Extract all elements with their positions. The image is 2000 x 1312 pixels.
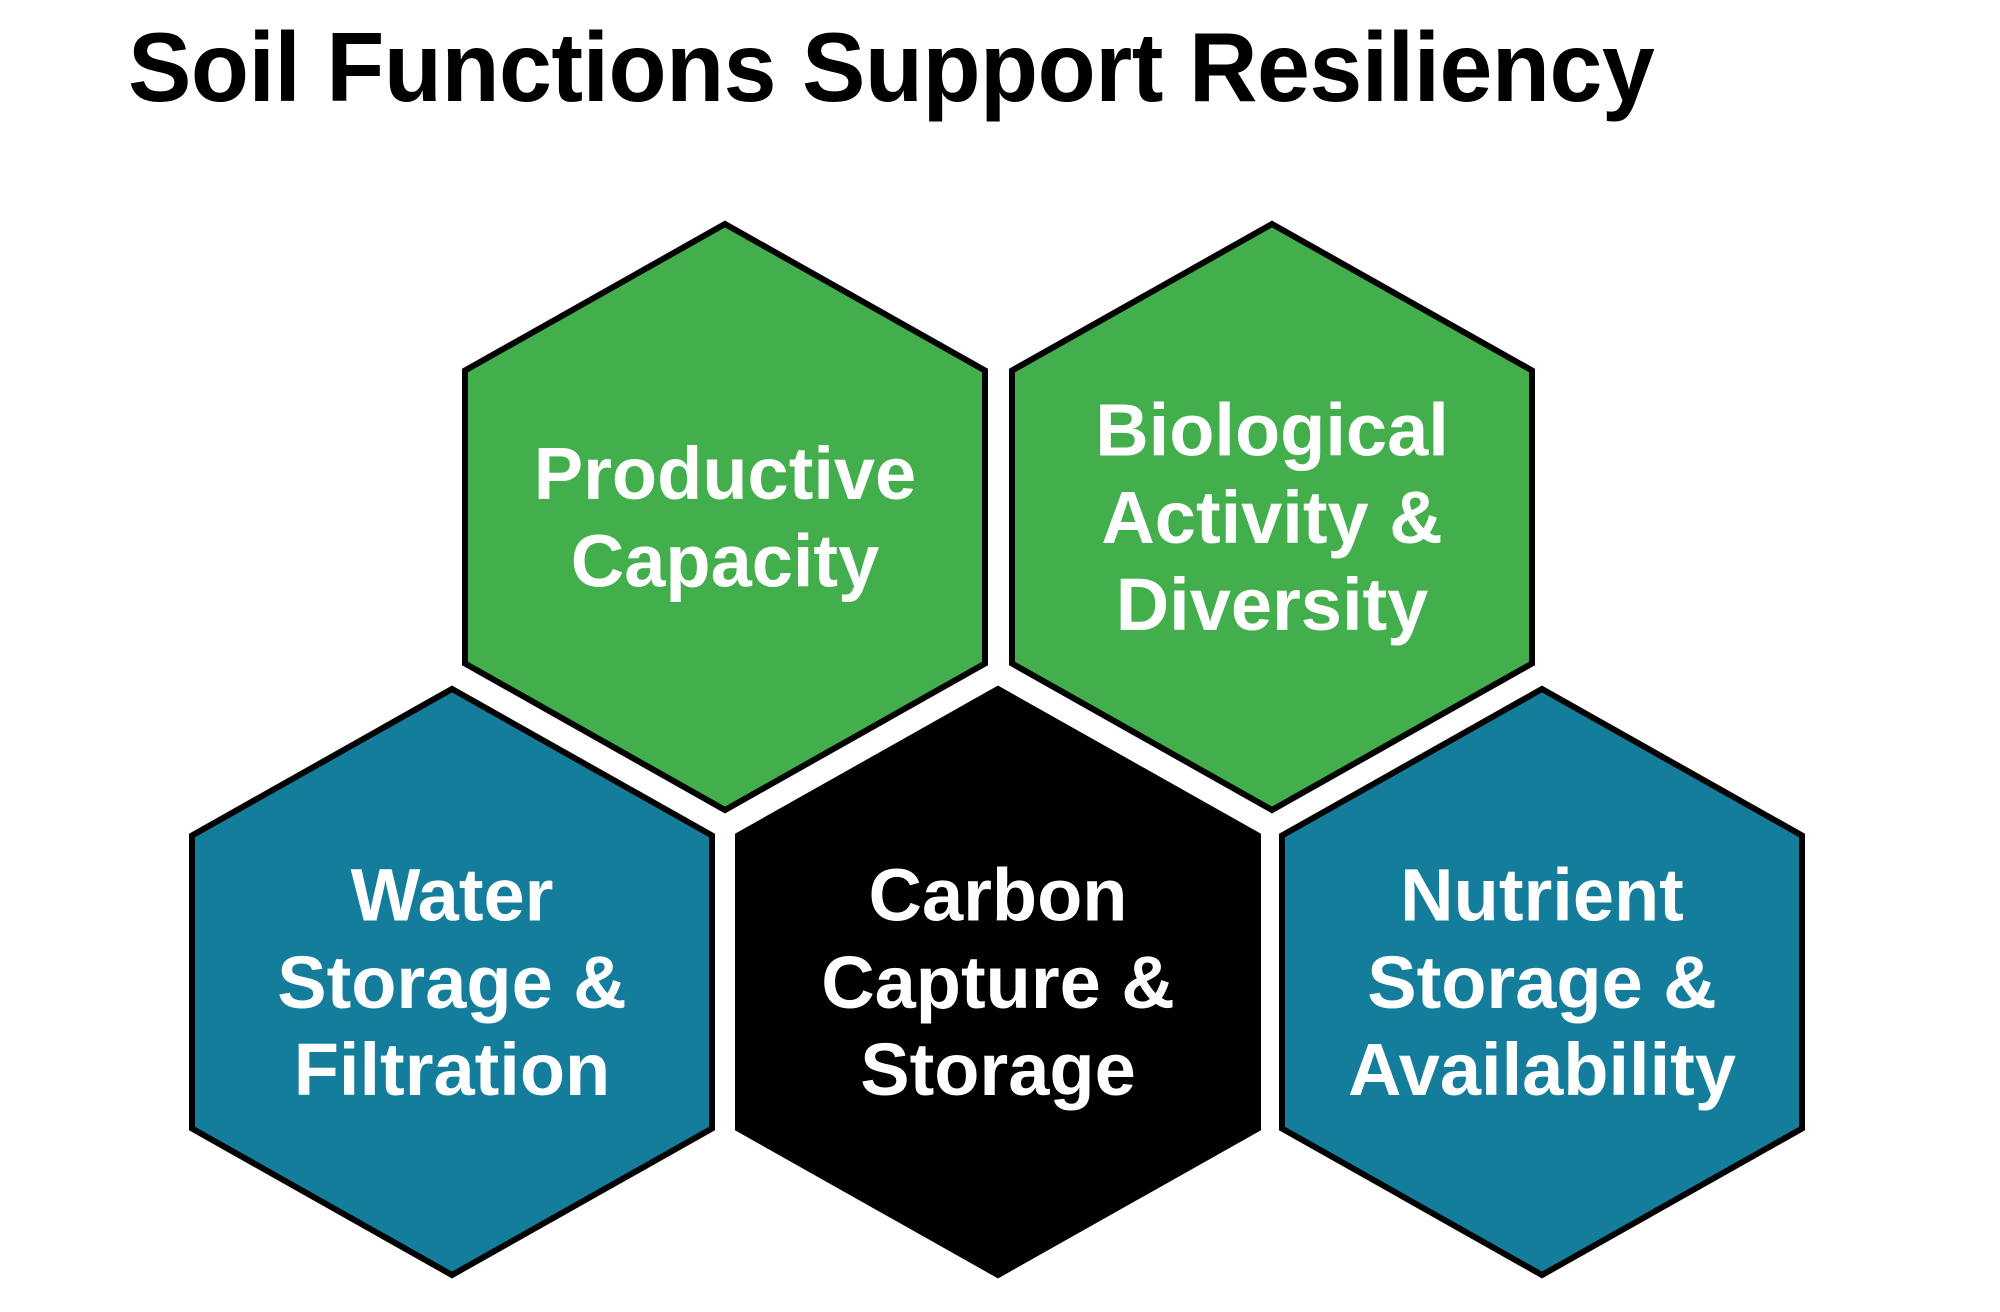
hexagon-productive-capacity-label-line-1: Capacity: [571, 520, 879, 603]
hexagon-productive-capacity-shape[interactable]: [465, 224, 985, 810]
infographic-canvas: Soil Functions Support Resiliency Produc…: [0, 0, 2000, 1312]
hexagon-nutrient-storage-availability-label: NutrientStorage &Availability: [1348, 854, 1736, 1112]
hexagon-biological-activity-diversity-label: BiologicalActivity &Diversity: [1095, 389, 1449, 647]
hexagon-nutrient-storage-availability-label-line-1: Storage &: [1367, 941, 1717, 1024]
hexagon-biological-activity-diversity-label-line-1: Activity &: [1101, 476, 1442, 559]
hexagon-diagram: ProductiveCapacityBiologicalActivity &Di…: [0, 0, 2000, 1312]
hexagon-carbon-capture-storage-label-line-0: Carbon: [869, 854, 1128, 937]
hexagon-water-storage-filtration-label-line-1: Storage &: [277, 941, 627, 1024]
hexagon-water-storage-filtration-label-line-0: Water: [351, 854, 554, 937]
hexagon-biological-activity-diversity[interactable]: BiologicalActivity &Diversity: [1012, 224, 1532, 810]
hexagon-carbon-capture-storage[interactable]: CarbonCapture &Storage: [738, 689, 1258, 1275]
hexagon-biological-activity-diversity-label-line-2: Diversity: [1116, 563, 1429, 646]
hexagon-nutrient-storage-availability-label-line-0: Nutrient: [1400, 854, 1684, 937]
hexagon-water-storage-filtration[interactable]: WaterStorage &Filtration: [192, 689, 712, 1275]
hexagon-nutrient-storage-availability[interactable]: NutrientStorage &Availability: [1282, 689, 1802, 1275]
hexagon-nutrient-storage-availability-label-line-2: Availability: [1348, 1028, 1736, 1111]
hexagon-water-storage-filtration-label-line-2: Filtration: [294, 1028, 611, 1111]
hexagon-carbon-capture-storage-label: CarbonCapture &Storage: [821, 854, 1175, 1112]
hexagon-productive-capacity-label-line-0: Productive: [534, 432, 916, 515]
hexagon-carbon-capture-storage-label-line-2: Storage: [860, 1028, 1136, 1111]
hexagon-carbon-capture-storage-label-line-1: Capture &: [821, 941, 1175, 1024]
hexagon-productive-capacity[interactable]: ProductiveCapacity: [465, 224, 985, 810]
hexagon-biological-activity-diversity-label-line-0: Biological: [1095, 389, 1449, 472]
